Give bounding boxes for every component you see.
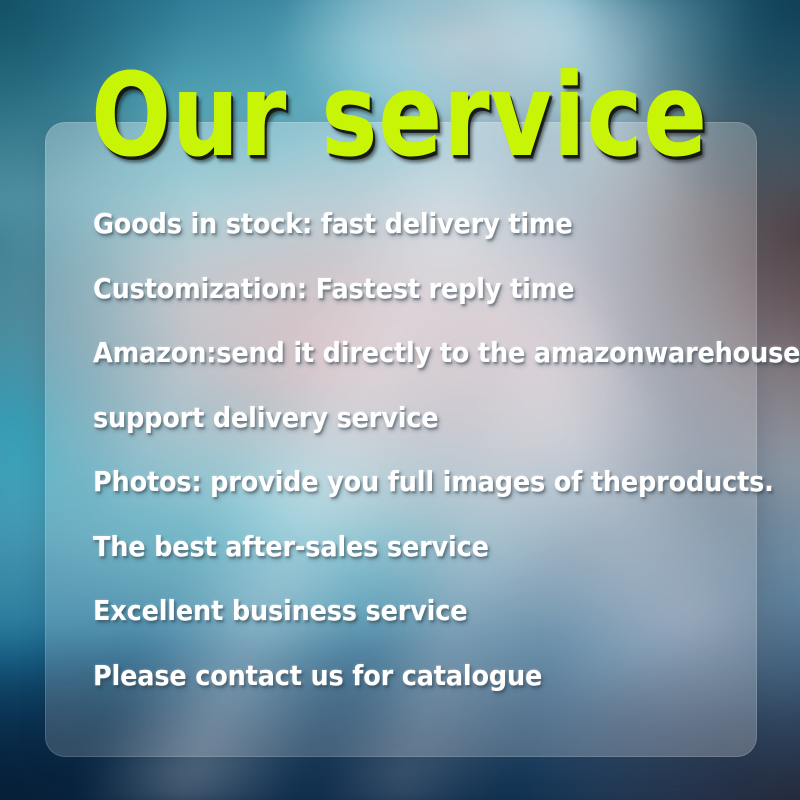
list-item: Excellent business service bbox=[93, 579, 707, 644]
list-item: Please contact us for catalogue bbox=[93, 644, 707, 709]
list-item: support delivery service bbox=[93, 386, 707, 451]
list-item: Customization: Fastest reply time bbox=[93, 257, 707, 322]
service-banner: Our service Goods in stock: fast deliver… bbox=[0, 0, 800, 800]
list-item: Goods in stock: fast delivery time bbox=[93, 192, 707, 257]
list-item: Amazon:send it directly to the amazonwar… bbox=[93, 321, 707, 386]
list-item: The best after-sales service bbox=[93, 515, 707, 580]
service-list: Goods in stock: fast delivery time Custo… bbox=[93, 192, 753, 708]
list-item: Photos: provide you full images of thepr… bbox=[93, 450, 707, 515]
page-title: Our service bbox=[56, 60, 744, 173]
